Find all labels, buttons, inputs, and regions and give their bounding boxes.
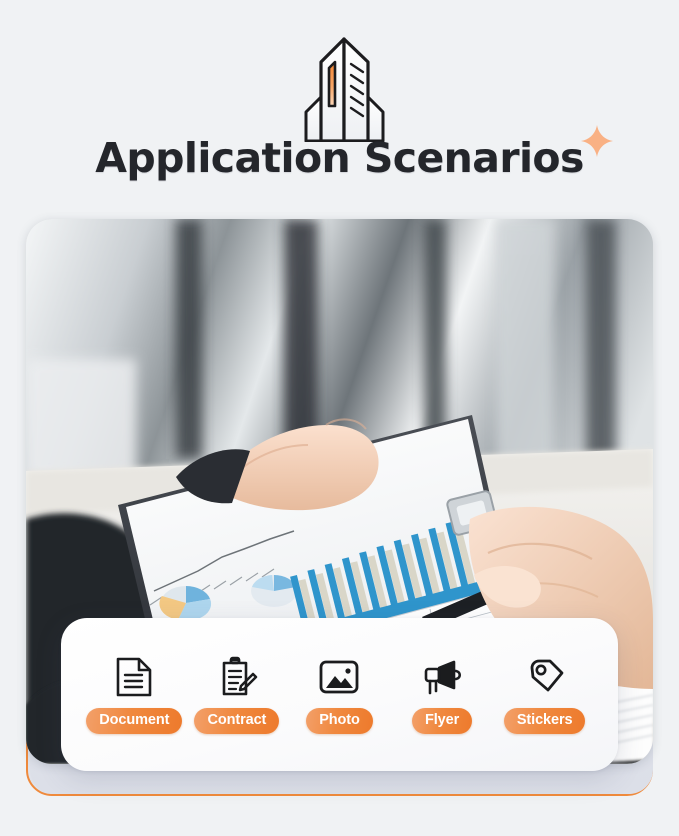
scenario-label-photo[interactable]: Photo [306, 708, 373, 734]
scenario-badge-card: Document [61, 618, 618, 771]
scenario-item-contract[interactable]: Contract [186, 655, 289, 734]
clipboard-pen-icon [215, 655, 259, 699]
scenario-item-photo[interactable]: Photo [288, 655, 391, 734]
megaphone-icon [420, 655, 464, 699]
scenario-item-flyer[interactable]: Flyer [391, 655, 494, 734]
application-scenarios-page: Application Scenarios [0, 0, 679, 836]
price-tag-icon [523, 655, 567, 699]
scenario-item-document[interactable]: Document [83, 655, 186, 734]
building-tower-icon [289, 34, 399, 142]
scenario-label-contract[interactable]: Contract [194, 708, 279, 734]
scenario-label-stickers[interactable]: Stickers [504, 708, 586, 734]
sparkle-star-icon [580, 124, 614, 158]
document-page-icon [112, 655, 156, 699]
scenario-label-flyer[interactable]: Flyer [412, 708, 472, 734]
header-section: Application Scenarios [0, 0, 679, 212]
title-row: Application Scenarios [0, 132, 679, 184]
scenario-card-stack: Document [26, 219, 653, 796]
scenario-label-document[interactable]: Document [86, 708, 182, 734]
image-picture-icon [317, 655, 361, 699]
page-title: Application Scenarios [95, 134, 584, 182]
scenario-item-stickers[interactable]: Stickers [493, 655, 596, 734]
